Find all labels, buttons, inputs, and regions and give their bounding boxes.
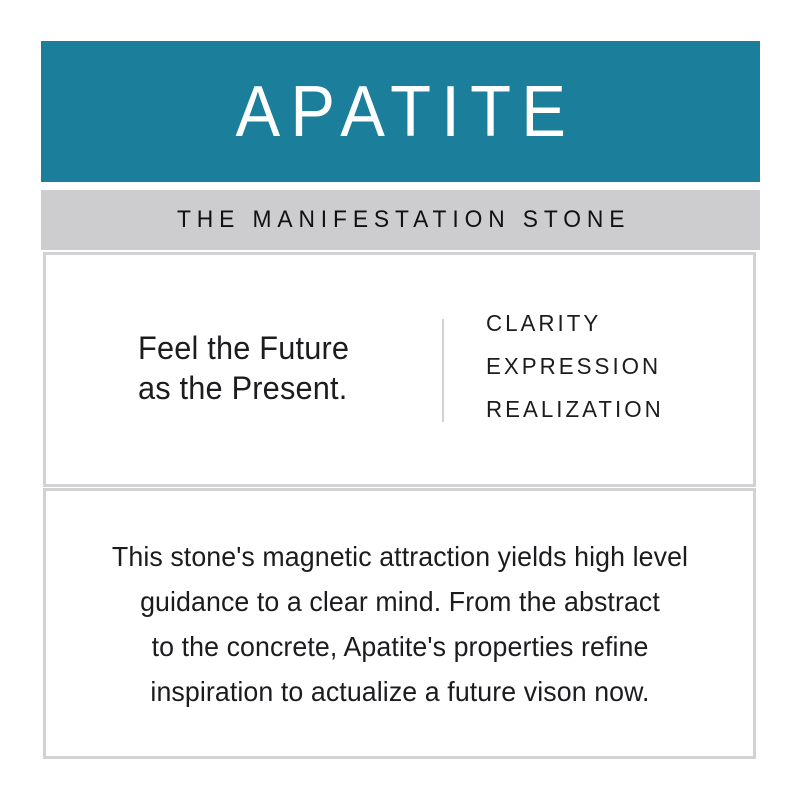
description-line-3: to the concrete, Apatite's properties re…: [94, 624, 705, 669]
keyword-clarity: CLARITY: [486, 312, 664, 335]
subtitle-band: THE MANIFESTATION STONE: [41, 190, 760, 250]
tagline-line-2: as the Present.: [138, 368, 426, 408]
description-line-2: guidance to a clear mind. From the abstr…: [94, 579, 705, 624]
description-panel: This stone's magnetic attraction yields …: [43, 488, 756, 759]
keyword-realization: REALIZATION: [486, 398, 664, 421]
vertical-divider: [442, 319, 444, 422]
stone-info-card: APATITE THE MANIFESTATION STONE Feel the…: [41, 41, 760, 759]
tagline-line-1: Feel the Future: [138, 328, 426, 368]
title-band: APATITE: [41, 41, 760, 182]
page-subtitle: THE MANIFESTATION STONE: [171, 208, 630, 232]
keyword-list: CLARITY EXPRESSION REALIZATION: [486, 312, 669, 421]
description-line-4: inspiration to actualize a future vison …: [94, 669, 705, 714]
page-title: APATITE: [225, 76, 576, 148]
keyword-expression: EXPRESSION: [486, 355, 664, 378]
description-text: This stone's magnetic attraction yields …: [94, 534, 705, 714]
tagline: Feel the Future as the Present.: [138, 328, 426, 408]
tagline-panel: Feel the Future as the Present. CLARITY …: [43, 252, 756, 487]
description-line-1: This stone's magnetic attraction yields …: [94, 534, 705, 579]
